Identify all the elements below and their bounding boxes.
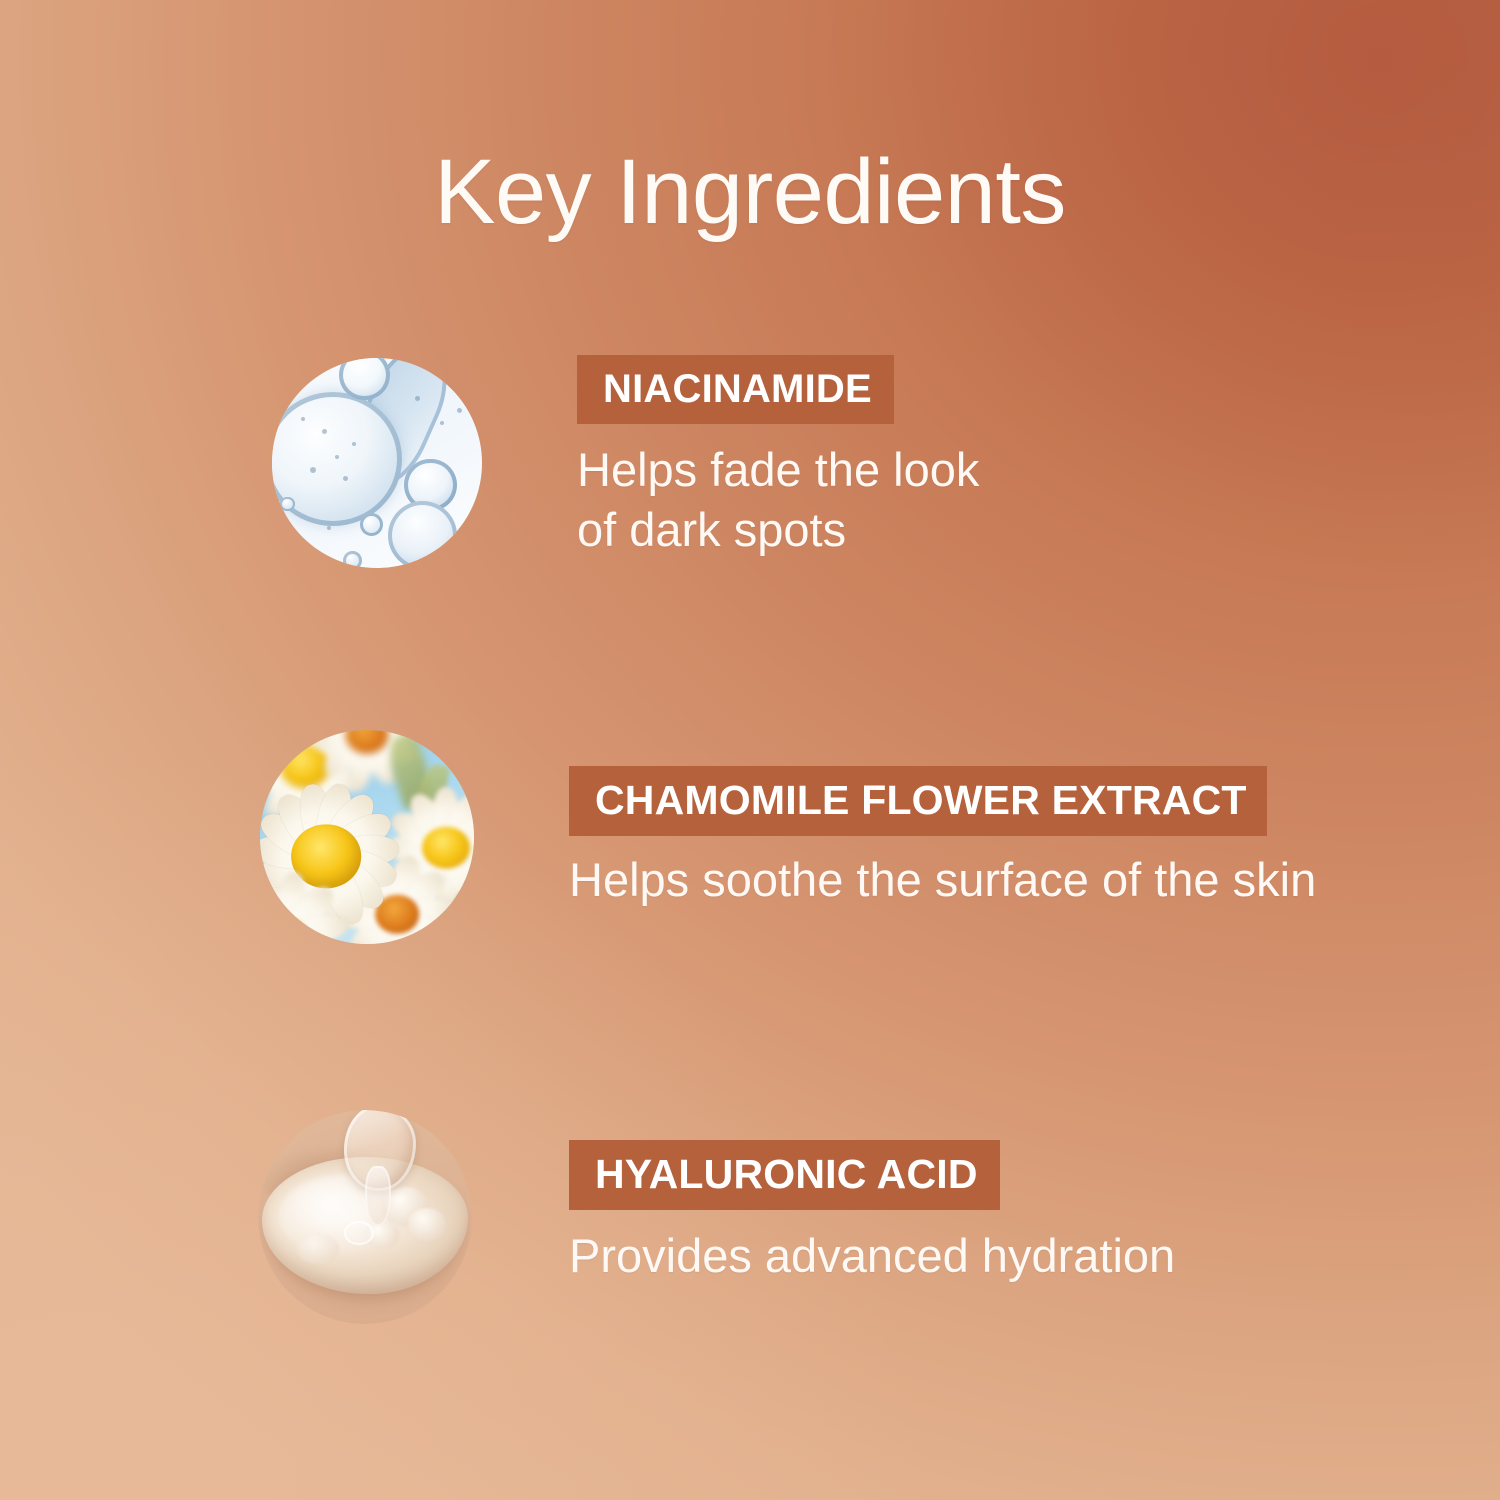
clear-gel-droplet-photo [258,1110,472,1324]
page-title: Key Ingredients [0,144,1500,241]
ingredient-description: Provides advanced hydration [569,1226,1175,1286]
ingredient-thumbnail-wrap [258,352,482,568]
ingredient-row-hyaluronic-acid: HYALURONIC ACID Provides advanced hydrat… [248,1104,1175,1324]
ingredient-text-column: NIACINAMIDE Helps fade the look of dark … [577,352,979,560]
ingredient-description: Helps fade the look of dark spots [577,440,979,560]
blue-gel-bubbles-photo [272,358,482,568]
ingredient-thumbnail-wrap [248,1104,472,1324]
ingredient-name-badge: HYALURONIC ACID [569,1140,1000,1210]
ingredient-row-chamomile: CHAMOMILE FLOWER EXTRACT Helps soothe th… [250,726,1316,944]
ingredient-text-column: HYALURONIC ACID Provides advanced hydrat… [569,1104,1175,1286]
ingredient-thumbnail-wrap [250,726,474,944]
ingredient-row-niacinamide: NIACINAMIDE Helps fade the look of dark … [258,352,979,568]
ingredient-text-column: CHAMOMILE FLOWER EXTRACT Helps soothe th… [569,726,1316,910]
ingredient-name-badge: CHAMOMILE FLOWER EXTRACT [569,766,1267,836]
ingredient-description: Helps soothe the surface of the skin [569,850,1316,910]
chamomile-flowers-photo [260,730,474,944]
ingredient-name-badge: NIACINAMIDE [577,355,894,424]
